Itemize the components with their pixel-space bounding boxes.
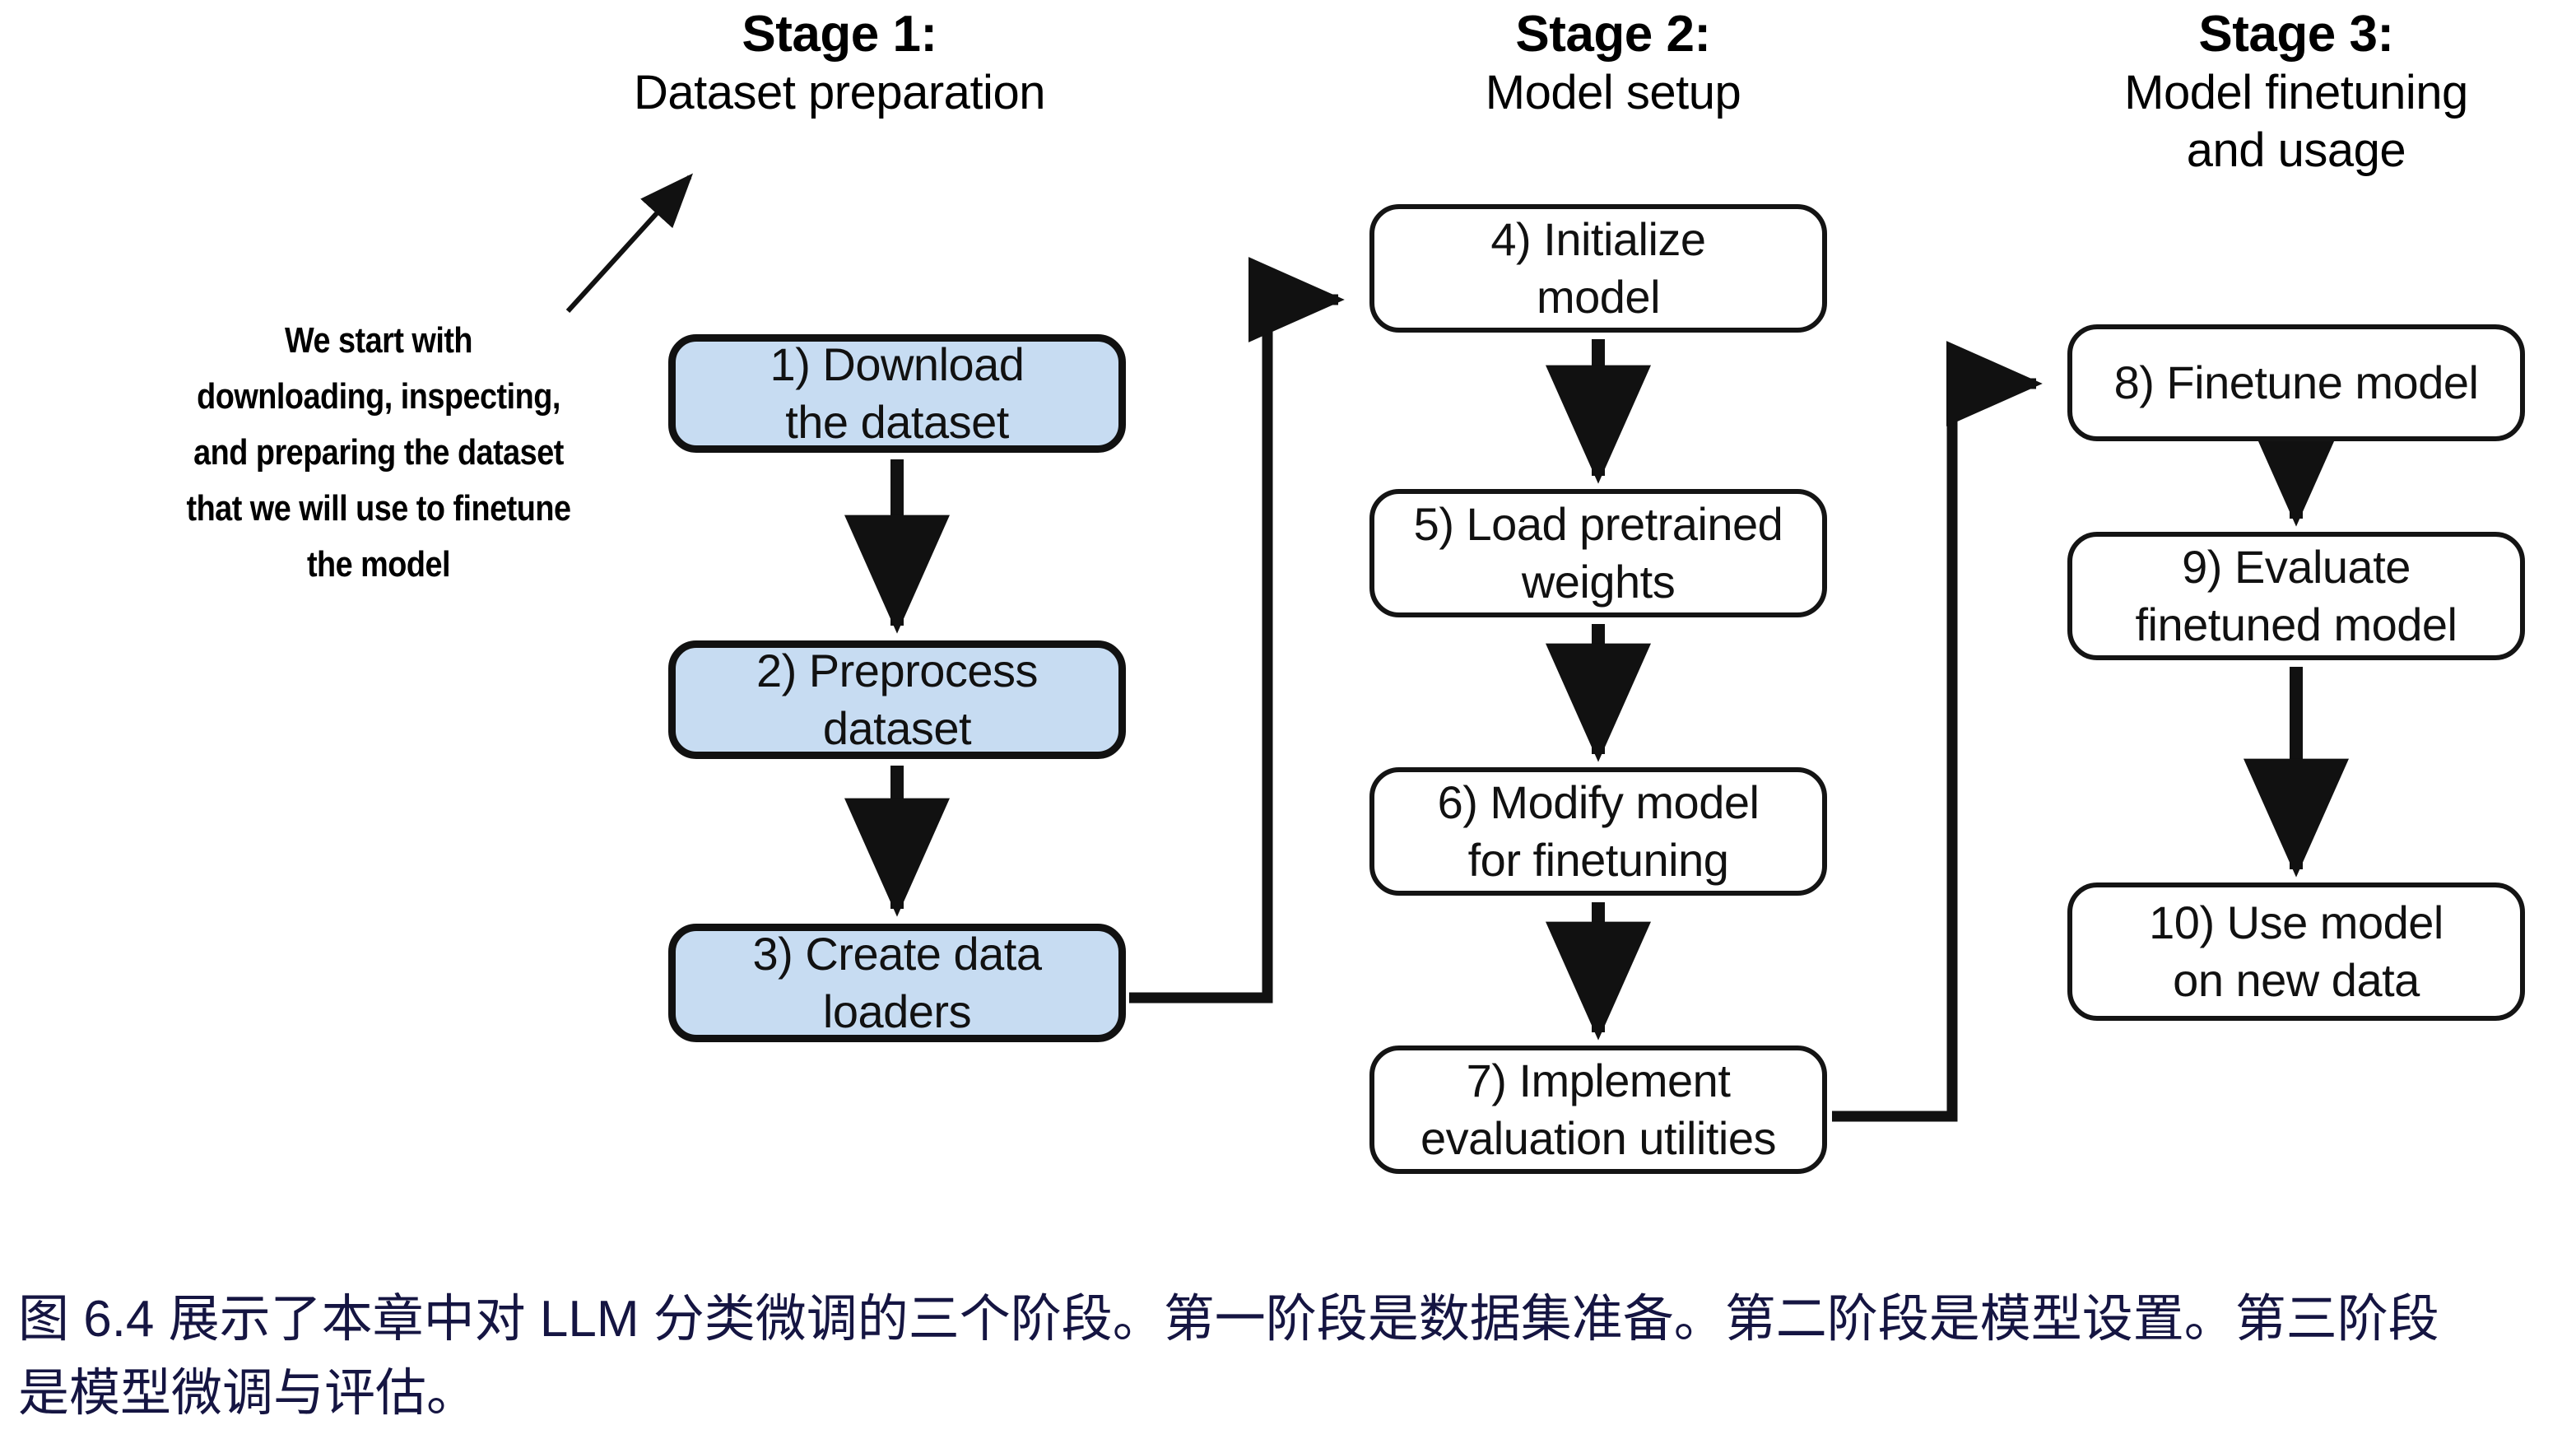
flow-node-3-create-data-loaders[interactable]: 3) Create dataloaders — [668, 924, 1126, 1042]
flow-node-10-label: 10) Use modelon new data — [2072, 894, 2520, 1009]
flow-node-6-label: 6) Modify modelfor finetuning — [1374, 774, 1822, 889]
flow-node-3-line-2: loaders — [823, 985, 971, 1037]
stage-2-title: Stage 2: — [1341, 5, 1885, 64]
flow-node-1-line-1: 1) Download — [770, 338, 1025, 390]
annotation-line-1: We start with — [138, 313, 620, 369]
annotation-pointer-arrow — [568, 177, 690, 311]
connector-layer — [0, 0, 2576, 1439]
flow-node-7-line-1: 7) Implement — [1467, 1055, 1731, 1106]
flow-node-5-label: 5) Load pretrainedweights — [1374, 496, 1822, 611]
stage-3-subtitle-line-2: and usage — [2025, 122, 2568, 179]
flow-node-1-download-dataset[interactable]: 1) Downloadthe dataset — [668, 334, 1126, 453]
annotation-line-3: and preparing the dataset — [138, 425, 620, 481]
annotation-note: We start with downloading, inspecting, a… — [138, 313, 620, 593]
flow-node-10-use-model-on-new-data[interactable]: 10) Use modelon new data — [2067, 882, 2525, 1021]
flow-node-4-label: 4) Initializemodel — [1374, 211, 1822, 326]
flow-node-6-modify-model[interactable]: 6) Modify modelfor finetuning — [1369, 767, 1827, 896]
flow-node-1-line-2: the dataset — [785, 396, 1009, 448]
flow-node-7-line-2: evaluation utilities — [1421, 1112, 1776, 1164]
figure-caption-line-2: 是模型微调与评估。 — [18, 1357, 2561, 1431]
flow-node-9-evaluate-finetuned-model[interactable]: 9) Evaluatefinetuned model — [2067, 532, 2525, 660]
stage-3-title: Stage 3: — [2025, 5, 2568, 64]
flow-node-2-preprocess-dataset[interactable]: 2) Preprocessdataset — [668, 640, 1126, 759]
flow-node-1-label: 1) Downloadthe dataset — [676, 336, 1118, 451]
annotation-line-5: the model — [138, 537, 620, 593]
flow-node-10-line-2: on new data — [2173, 954, 2420, 1006]
flow-node-10-line-1: 10) Use model — [2149, 896, 2443, 948]
flow-node-9-label: 9) Evaluatefinetuned model — [2072, 538, 2520, 654]
flow-node-2-label: 2) Preprocessdataset — [676, 642, 1118, 757]
flow-node-4-line-2: model — [1537, 271, 1660, 323]
annotation-line-4: that we will use to finetune — [138, 481, 620, 537]
flow-node-2-line-2: dataset — [823, 702, 971, 754]
stage-2-header: Stage 2: Model setup — [1341, 5, 1885, 122]
flow-node-3-label: 3) Create dataloaders — [676, 925, 1118, 1041]
flow-node-3-line-1: 3) Create data — [753, 928, 1042, 980]
flow-node-5-line-2: weights — [1522, 556, 1675, 608]
flow-node-6-line-2: for finetuning — [1468, 834, 1729, 886]
flow-node-5-line-1: 5) Load pretrained — [1414, 498, 1783, 550]
figure-caption: 图 6.4 展示了本章中对 LLM 分类微调的三个阶段。第一阶段是数据集准备。第… — [18, 1283, 2561, 1431]
connector-7-to-8 — [1832, 384, 2036, 1116]
flow-node-6-line-1: 6) Modify model — [1438, 776, 1760, 828]
flow-node-9-line-1: 9) Evaluate — [2182, 541, 2411, 593]
flow-node-4-initialize-model[interactable]: 4) Initializemodel — [1369, 204, 1827, 333]
flow-node-9-line-2: finetuned model — [2135, 598, 2457, 650]
stage-3-subtitle-line-1: Model finetuning — [2025, 64, 2568, 122]
flow-node-7-label: 7) Implementevaluation utilities — [1374, 1052, 1822, 1167]
stage-3-header: Stage 3: Model finetuning and usage — [2025, 5, 2568, 179]
flow-node-7-implement-evaluation-utilities[interactable]: 7) Implementevaluation utilities — [1369, 1045, 1827, 1174]
figure-caption-line-1: 图 6.4 展示了本章中对 LLM 分类微调的三个阶段。第一阶段是数据集准备。第… — [18, 1283, 2561, 1357]
stage-1-subtitle: Dataset preparation — [527, 64, 1152, 122]
figure-canvas: Stage 1: Dataset preparation Stage 2: Mo… — [0, 0, 2576, 1439]
stage-2-subtitle: Model setup — [1341, 64, 1885, 122]
connector-3-to-4 — [1129, 300, 1338, 998]
annotation-line-2: downloading, inspecting, — [138, 369, 620, 425]
flow-node-2-line-1: 2) Preprocess — [756, 645, 1038, 696]
flow-node-8-label: 8) Finetune model — [2072, 354, 2520, 412]
flow-node-8-finetune-model[interactable]: 8) Finetune model — [2067, 324, 2525, 441]
stage-1-title: Stage 1: — [527, 5, 1152, 64]
flow-node-5-load-pretrained-weights[interactable]: 5) Load pretrainedweights — [1369, 489, 1827, 617]
stage-1-header: Stage 1: Dataset preparation — [527, 5, 1152, 122]
flow-node-4-line-1: 4) Initialize — [1490, 213, 1705, 265]
